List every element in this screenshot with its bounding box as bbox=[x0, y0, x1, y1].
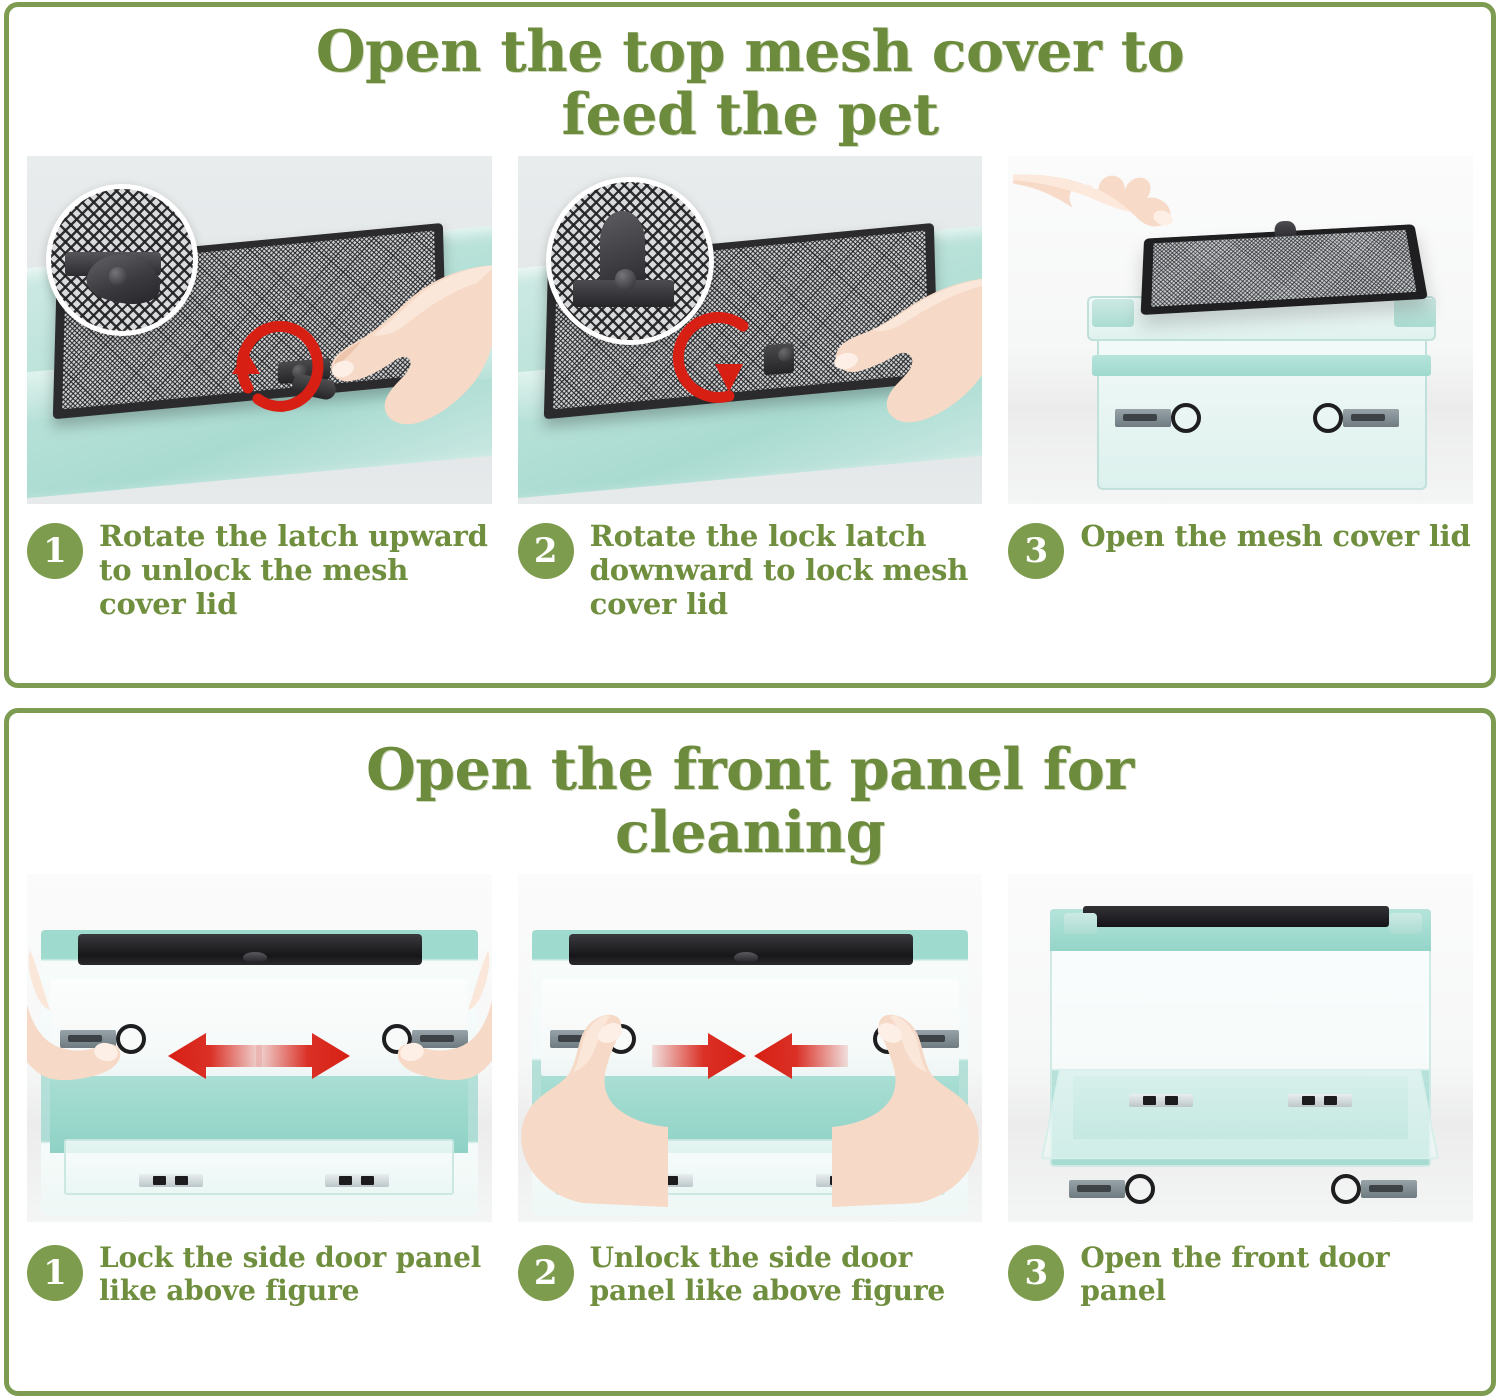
inset-latch-pivot bbox=[109, 267, 127, 285]
section-title-top: Open the top mesh cover to feed the pet bbox=[9, 7, 1491, 156]
step-top-3: 3 Open the mesh cover lid bbox=[1008, 520, 1473, 683]
mesh-cover-lid bbox=[1083, 906, 1390, 927]
hinge-clip-right bbox=[1288, 1094, 1352, 1107]
magnifier-inset-locked-latch bbox=[546, 177, 714, 345]
latch-slide bbox=[1343, 409, 1399, 427]
step-bottom-3: 3 Open the front door panel bbox=[1008, 1242, 1473, 1391]
pointing-hand bbox=[786, 271, 982, 456]
step-bottom-1: 1 Lock the side door panel like above fi… bbox=[27, 1242, 492, 1391]
arrow-left-icon bbox=[166, 1031, 262, 1081]
corner-tab-left bbox=[1064, 913, 1097, 934]
photo-cell-bottom-1 bbox=[27, 874, 492, 1222]
step-number-badge: 2 bbox=[518, 1245, 574, 1301]
latch-slide bbox=[1361, 1180, 1417, 1198]
latch-slide bbox=[1069, 1180, 1125, 1198]
step-top-1: 1 Rotate the latch upward to unlock the … bbox=[27, 520, 492, 683]
section-title-bottom-line2: cleaning bbox=[69, 802, 1431, 865]
photo-lock-side-door bbox=[27, 874, 492, 1222]
photo-cell-bottom-2 bbox=[518, 874, 983, 1222]
section-title-top-line2: feed the pet bbox=[69, 84, 1431, 147]
photo-open-mesh-lid bbox=[1008, 156, 1473, 504]
step-caption: Lock the side door panel like above figu… bbox=[99, 1242, 492, 1307]
ring-latch-left bbox=[1069, 1174, 1155, 1204]
photo-row-top bbox=[9, 156, 1491, 504]
photo-row-bottom bbox=[9, 874, 1491, 1222]
hinge-clip-left bbox=[1129, 1094, 1193, 1107]
photo-cell-top-1 bbox=[27, 156, 492, 504]
photo-cell-top-3 bbox=[1008, 156, 1473, 504]
step-number-badge: 3 bbox=[1008, 1245, 1064, 1301]
thumb-hand-left bbox=[518, 1007, 668, 1207]
latch-ring bbox=[1125, 1174, 1155, 1204]
ring-latch-left bbox=[1115, 403, 1201, 433]
inset-latch-pivot bbox=[615, 269, 636, 290]
step-caption: Open the front door panel bbox=[1080, 1242, 1473, 1307]
arrow-right-icon bbox=[256, 1031, 352, 1081]
mesh-cover-lid bbox=[569, 934, 913, 965]
hinge-clip-left bbox=[139, 1174, 203, 1187]
hinge-clip-right bbox=[325, 1174, 389, 1187]
photo-unlock-side-door bbox=[518, 874, 983, 1222]
caption-row-top: 1 Rotate the latch upward to unlock the … bbox=[9, 504, 1491, 683]
section-title-bottom: Open the front panel for cleaning bbox=[9, 713, 1491, 874]
step-number-badge: 1 bbox=[27, 1245, 83, 1301]
front-door-panel-open bbox=[1041, 1069, 1440, 1160]
section-front-panel-cleaning: Open the front panel for cleaning bbox=[4, 708, 1496, 1396]
pointing-hand bbox=[291, 257, 492, 447]
photo-cell-top-2 bbox=[518, 156, 983, 504]
step-bottom-2: 2 Unlock the side door panel like above … bbox=[518, 1242, 983, 1391]
corner-tab-right bbox=[1394, 299, 1436, 327]
step-caption: Rotate the lock latch downward to lock m… bbox=[590, 520, 983, 621]
section-title-bottom-line1: Open the front panel for bbox=[69, 739, 1431, 802]
ring-latch-right bbox=[1313, 403, 1399, 433]
instruction-sheet: Open the top mesh cover to feed the pet bbox=[0, 0, 1500, 1400]
ring-latch-right bbox=[1331, 1174, 1417, 1204]
latch-ring bbox=[1313, 403, 1343, 433]
photo-open-front-door bbox=[1008, 874, 1473, 1222]
magnifier-inset-unlocked-latch bbox=[46, 184, 198, 336]
photo-cell-bottom-3 bbox=[1008, 874, 1473, 1222]
photo-rotate-latch-upward bbox=[27, 156, 492, 504]
step-number-badge: 1 bbox=[27, 523, 83, 579]
step-number-badge: 2 bbox=[518, 523, 574, 579]
corner-tab-right bbox=[1389, 913, 1422, 934]
terrarium-mint-band bbox=[1092, 355, 1431, 376]
step-number-badge: 3 bbox=[1008, 523, 1064, 579]
caption-row-bottom: 1 Lock the side door panel like above fi… bbox=[9, 1222, 1491, 1391]
step-caption: Rotate the latch upward to unlock the me… bbox=[99, 520, 492, 621]
latch-ring bbox=[1171, 403, 1201, 433]
step-caption: Unlock the side door panel like above fi… bbox=[590, 1242, 983, 1307]
lifting-hand bbox=[1013, 160, 1203, 335]
latch-slide bbox=[1115, 409, 1171, 427]
latch-ring bbox=[1331, 1174, 1361, 1204]
photo-rotate-latch-downward bbox=[518, 156, 983, 504]
hand-left bbox=[27, 944, 138, 1154]
section-title-top-line1: Open the top mesh cover to bbox=[69, 21, 1431, 84]
step-caption: Open the mesh cover lid bbox=[1080, 520, 1470, 554]
section-top-mesh-cover: Open the top mesh cover to feed the pet bbox=[4, 2, 1496, 688]
step-top-2: 2 Rotate the lock latch downward to lock… bbox=[518, 520, 983, 683]
thumb-hand-right bbox=[832, 1007, 982, 1207]
hand-right bbox=[380, 944, 491, 1154]
